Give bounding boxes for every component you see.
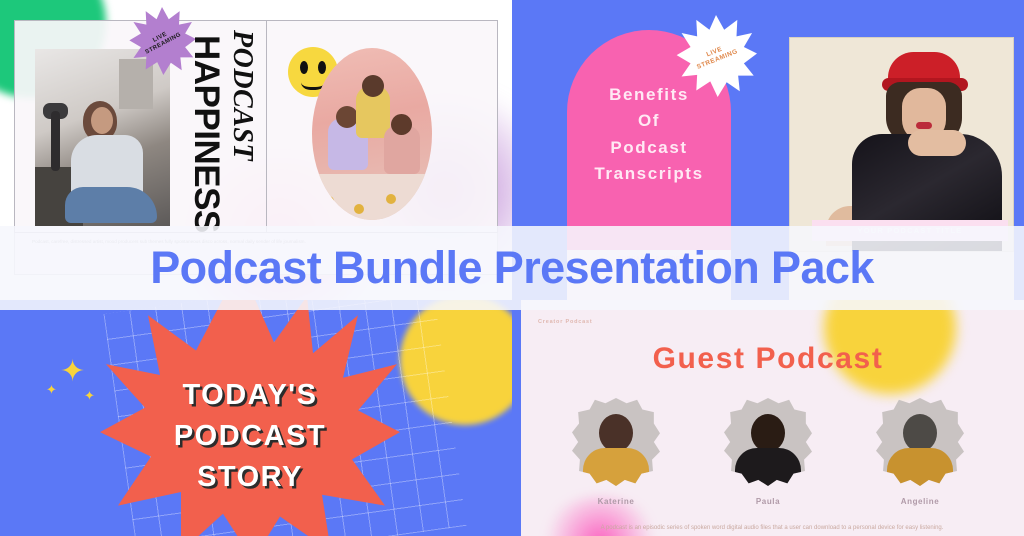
guest-list: Katerine Paula Angeline bbox=[568, 398, 968, 510]
slide-todays-podcast-story: ✦ ✦ ✦ TODAY'S PODCAST STORY bbox=[0, 300, 512, 536]
slide-left-edge bbox=[512, 300, 521, 536]
sparkle-icon-small-left: ✦ bbox=[46, 382, 57, 398]
guest-name: Angeline bbox=[872, 497, 968, 506]
heading-line-2: PODCAST bbox=[110, 416, 390, 457]
slide-heading: Guest Podcast bbox=[512, 342, 1024, 376]
heading-line-4: Transcripts bbox=[567, 161, 731, 187]
slide-heading: Benefits Of Podcast Transcripts bbox=[567, 82, 731, 187]
slide-wordmark: PODCASTHAPPINESS bbox=[186, 30, 258, 226]
sparkle-icon: ✦ bbox=[60, 354, 85, 389]
live-streaming-badge-label: LIVE STREAMING bbox=[686, 38, 746, 74]
slide-heading: TODAY'S PODCAST STORY bbox=[110, 375, 390, 499]
heading-line-1: TODAY'S bbox=[110, 375, 390, 416]
heading-line-2: Of bbox=[567, 108, 731, 134]
heading-line-3: STORY bbox=[110, 457, 390, 498]
slide-center-divider bbox=[266, 20, 267, 233]
guest-item: Katerine bbox=[568, 398, 664, 510]
page-title: Podcast Bundle Presentation Pack bbox=[150, 242, 874, 294]
slide-guest-podcast: Creator Podcast Guest Podcast Katerine P… bbox=[512, 300, 1024, 536]
sparkle-icon-small-right: ✦ bbox=[84, 388, 95, 404]
guest-name: Paula bbox=[720, 497, 816, 506]
wordmark-podcast: PODCAST bbox=[226, 30, 258, 161]
title-banner: Podcast Bundle Presentation Pack bbox=[0, 226, 1024, 310]
slide-caption: A podcast is an episodic series of spoke… bbox=[582, 524, 962, 534]
friends-photo bbox=[312, 48, 432, 220]
guest-name: Katerine bbox=[568, 497, 664, 506]
wordmark-happiness: HAPPINESS bbox=[186, 35, 226, 233]
presentation-pack-promo-image: LIVE STREAMING PODCASTHAPPINESS Podcast,… bbox=[0, 0, 1024, 536]
guest-item: Angeline bbox=[872, 398, 968, 510]
heading-line-3: Podcast bbox=[567, 135, 731, 161]
guest-item: Paula bbox=[720, 398, 816, 510]
avatar bbox=[876, 398, 964, 486]
avatar bbox=[724, 398, 812, 486]
live-streaming-badge-label: LIVE STREAMING bbox=[134, 22, 190, 60]
podcaster-photo bbox=[35, 49, 170, 226]
avatar bbox=[572, 398, 660, 486]
slide-eyebrow-label: Creator Podcast bbox=[538, 319, 593, 325]
heading-line-1: Benefits bbox=[567, 82, 731, 108]
